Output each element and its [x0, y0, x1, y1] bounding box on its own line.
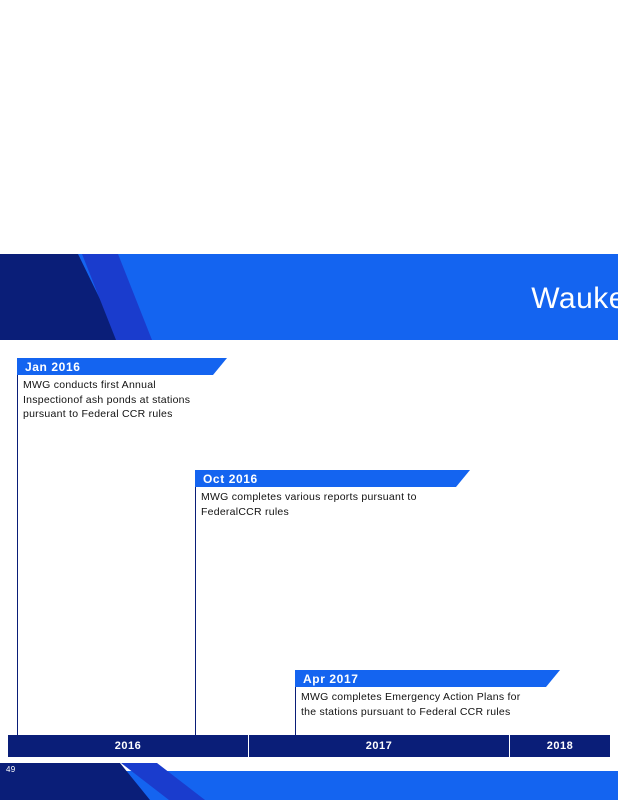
timeline-event-line: MWG completes Emergency Action Plans for: [301, 690, 560, 705]
timeline-event-line: FederalCCR rules: [201, 505, 470, 520]
axis-label-2017: 2017: [249, 735, 509, 757]
timeline-event-banner[interactable]: Oct 2016: [195, 470, 470, 487]
timeline-event-label: Apr 2017: [295, 672, 359, 686]
timeline: Jan 2016 MWG conducts first Annual Inspe…: [0, 340, 618, 740]
timeline-event-body: MWG completes various reports pursuant t…: [195, 487, 470, 519]
timeline-event: Oct 2016 MWG completes various reports p…: [195, 470, 470, 519]
timeline-event-line: MWG conducts first Annual: [23, 378, 227, 393]
timeline-event-body: MWG completes Emergency Action Plans for…: [295, 687, 560, 719]
slide-number: 49: [6, 765, 16, 774]
timeline-axis: 2016 2017 2018: [8, 735, 610, 757]
slide-footer: 49: [0, 763, 618, 800]
slide-header-band: [0, 254, 618, 340]
page-title: Wauke: [531, 282, 618, 316]
timeline-event-body: MWG conducts first Annual Inspectionof a…: [17, 375, 227, 422]
timeline-event-banner[interactable]: Apr 2017: [295, 670, 560, 687]
axis-label-2018: 2018: [510, 735, 610, 757]
timeline-event-line: the stations pursuant to Federal CCR rul…: [301, 705, 560, 720]
timeline-event: Jan 2016 MWG conducts first Annual Inspe…: [17, 358, 227, 422]
timeline-event-line: MWG completes various reports pursuant t…: [201, 490, 470, 505]
timeline-event-label: Jan 2016: [17, 360, 81, 374]
timeline-event-line: Inspectionof ash ponds at stations: [23, 393, 227, 408]
timeline-event-line: pursuant to Federal CCR rules: [23, 407, 227, 422]
timeline-event: Apr 2017 MWG completes Emergency Action …: [295, 670, 560, 719]
timeline-event-banner[interactable]: Jan 2016: [17, 358, 227, 375]
footer-dark-wedge: [0, 763, 150, 800]
axis-label-2016: 2016: [8, 735, 248, 757]
timeline-event-label: Oct 2016: [195, 472, 258, 486]
